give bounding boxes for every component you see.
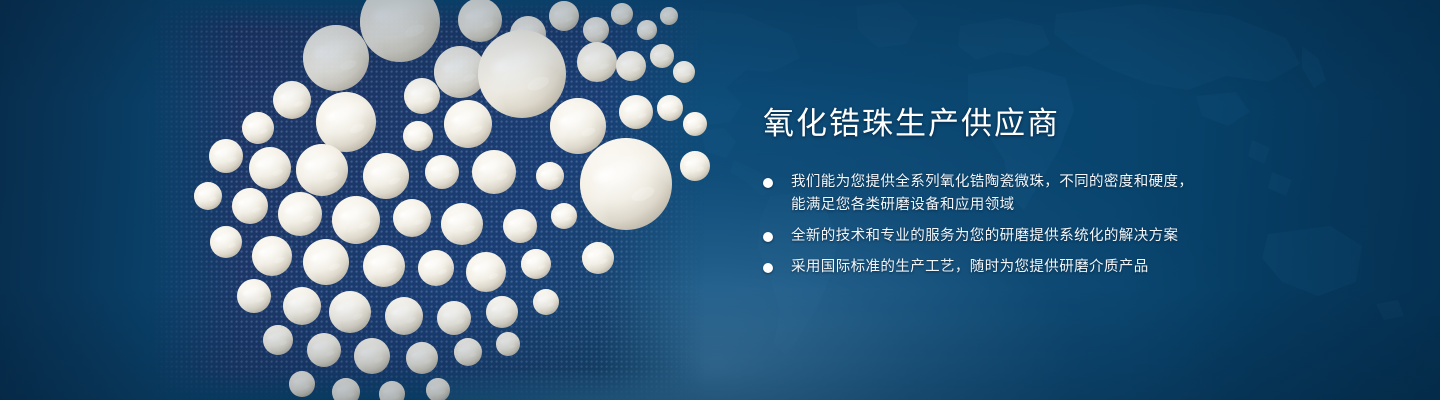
list-item-line: 采用国际标准的生产工艺，随时为您提供研磨介质产品 (791, 256, 1403, 279)
list-item: 我们能为您提供全系列氧化锆陶瓷微珠，不同的密度和硬度， 能满足您各类研磨设备和应… (763, 171, 1403, 217)
feature-list: 我们能为您提供全系列氧化锆陶瓷微珠，不同的密度和硬度， 能满足您各类研磨设备和应… (763, 171, 1403, 279)
hero-banner: 氧化锆珠生产供应商 我们能为您提供全系列氧化锆陶瓷微珠，不同的密度和硬度， 能满… (0, 0, 1440, 400)
list-item: 全新的技术和专业的服务为您的研磨提供系统化的解决方案 (763, 225, 1403, 248)
filled-circle-bullet-icon (763, 178, 773, 188)
filled-circle-bullet-icon (763, 263, 773, 273)
banner-copy: 氧化锆珠生产供应商 我们能为您提供全系列氧化锆陶瓷微珠，不同的密度和硬度， 能满… (763, 104, 1403, 279)
list-item-line: 全新的技术和专业的服务为您的研磨提供系统化的解决方案 (791, 225, 1403, 248)
zirconia-beads-photo (150, 0, 710, 400)
list-item-line: 我们能为您提供全系列氧化锆陶瓷微珠，不同的密度和硬度， (791, 171, 1403, 194)
list-item-line: 能满足您各类研磨设备和应用领域 (791, 194, 1403, 217)
list-item: 采用国际标准的生产工艺，随时为您提供研磨介质产品 (763, 256, 1403, 279)
filled-circle-bullet-icon (763, 232, 773, 242)
banner-headline: 氧化锆珠生产供应商 (763, 104, 1403, 144)
